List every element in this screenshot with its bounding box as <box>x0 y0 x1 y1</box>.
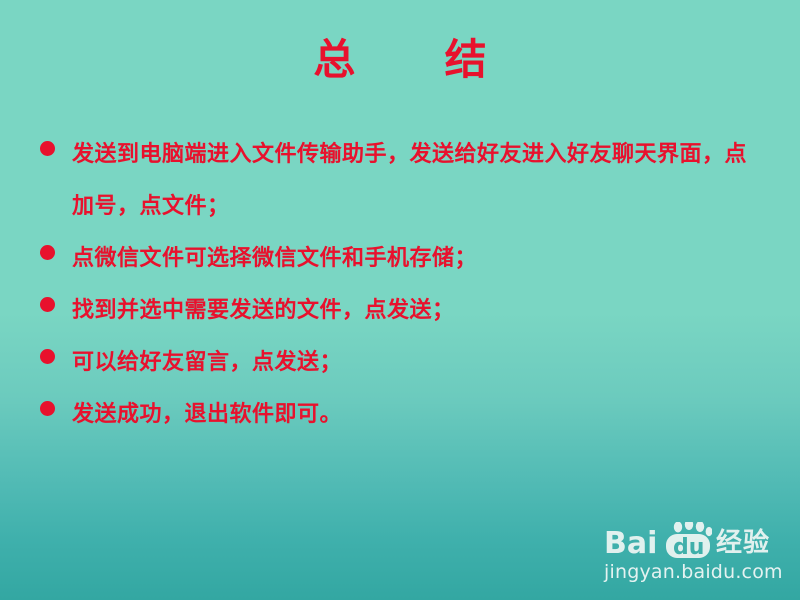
list-item: 发送成功，退出软件即可。 <box>40 389 770 441</box>
bullet-circle-icon <box>40 245 55 260</box>
list-item: 点微信文件可选择微信文件和手机存储； <box>40 233 770 285</box>
list-item-text: 找到并选中需要发送的文件，点发送； <box>72 285 770 337</box>
list-item-text: 发送成功，退出软件即可。 <box>72 389 770 441</box>
bullet-circle-icon <box>40 401 55 416</box>
list-item: 可以给好友留言，点发送； <box>40 337 770 389</box>
watermark-brand-cn: 经验 <box>716 528 770 558</box>
page-title: 总 结 <box>0 34 800 86</box>
svg-text:Bai: Bai <box>604 526 657 558</box>
watermark-url: jingyan.baidu.com <box>604 561 794 583</box>
list-item: 找到并选中需要发送的文件，点发送； <box>40 285 770 337</box>
svg-text:du: du <box>673 535 704 558</box>
bullet-circle-icon <box>40 297 55 312</box>
baidu-jingyan-watermark: Bai du 经验 jingyan.baidu.com <box>604 522 794 588</box>
list-item-text: 点微信文件可选择微信文件和手机存储； <box>72 233 770 285</box>
list-item-text: 发送到电脑端进入文件传输助手，发送给好友进入好友聊天界面，点加号，点文件； <box>72 129 760 233</box>
bullet-list: 发送到电脑端进入文件传输助手，发送给好友进入好友聊天界面，点加号，点文件； 点微… <box>40 129 770 441</box>
bullet-circle-icon <box>40 141 55 156</box>
watermark-logo-row: Bai du 经验 <box>604 522 794 558</box>
baidu-logo-icon: Bai du <box>604 522 712 558</box>
list-item: 发送到电脑端进入文件传输助手，发送给好友进入好友聊天界面，点加号，点文件； <box>40 129 770 233</box>
slide-canvas: 总 结 发送到电脑端进入文件传输助手，发送给好友进入好友聊天界面，点加号，点文件… <box>0 0 800 600</box>
list-item-text: 可以给好友留言，点发送； <box>72 337 770 389</box>
bullet-circle-icon <box>40 349 55 364</box>
